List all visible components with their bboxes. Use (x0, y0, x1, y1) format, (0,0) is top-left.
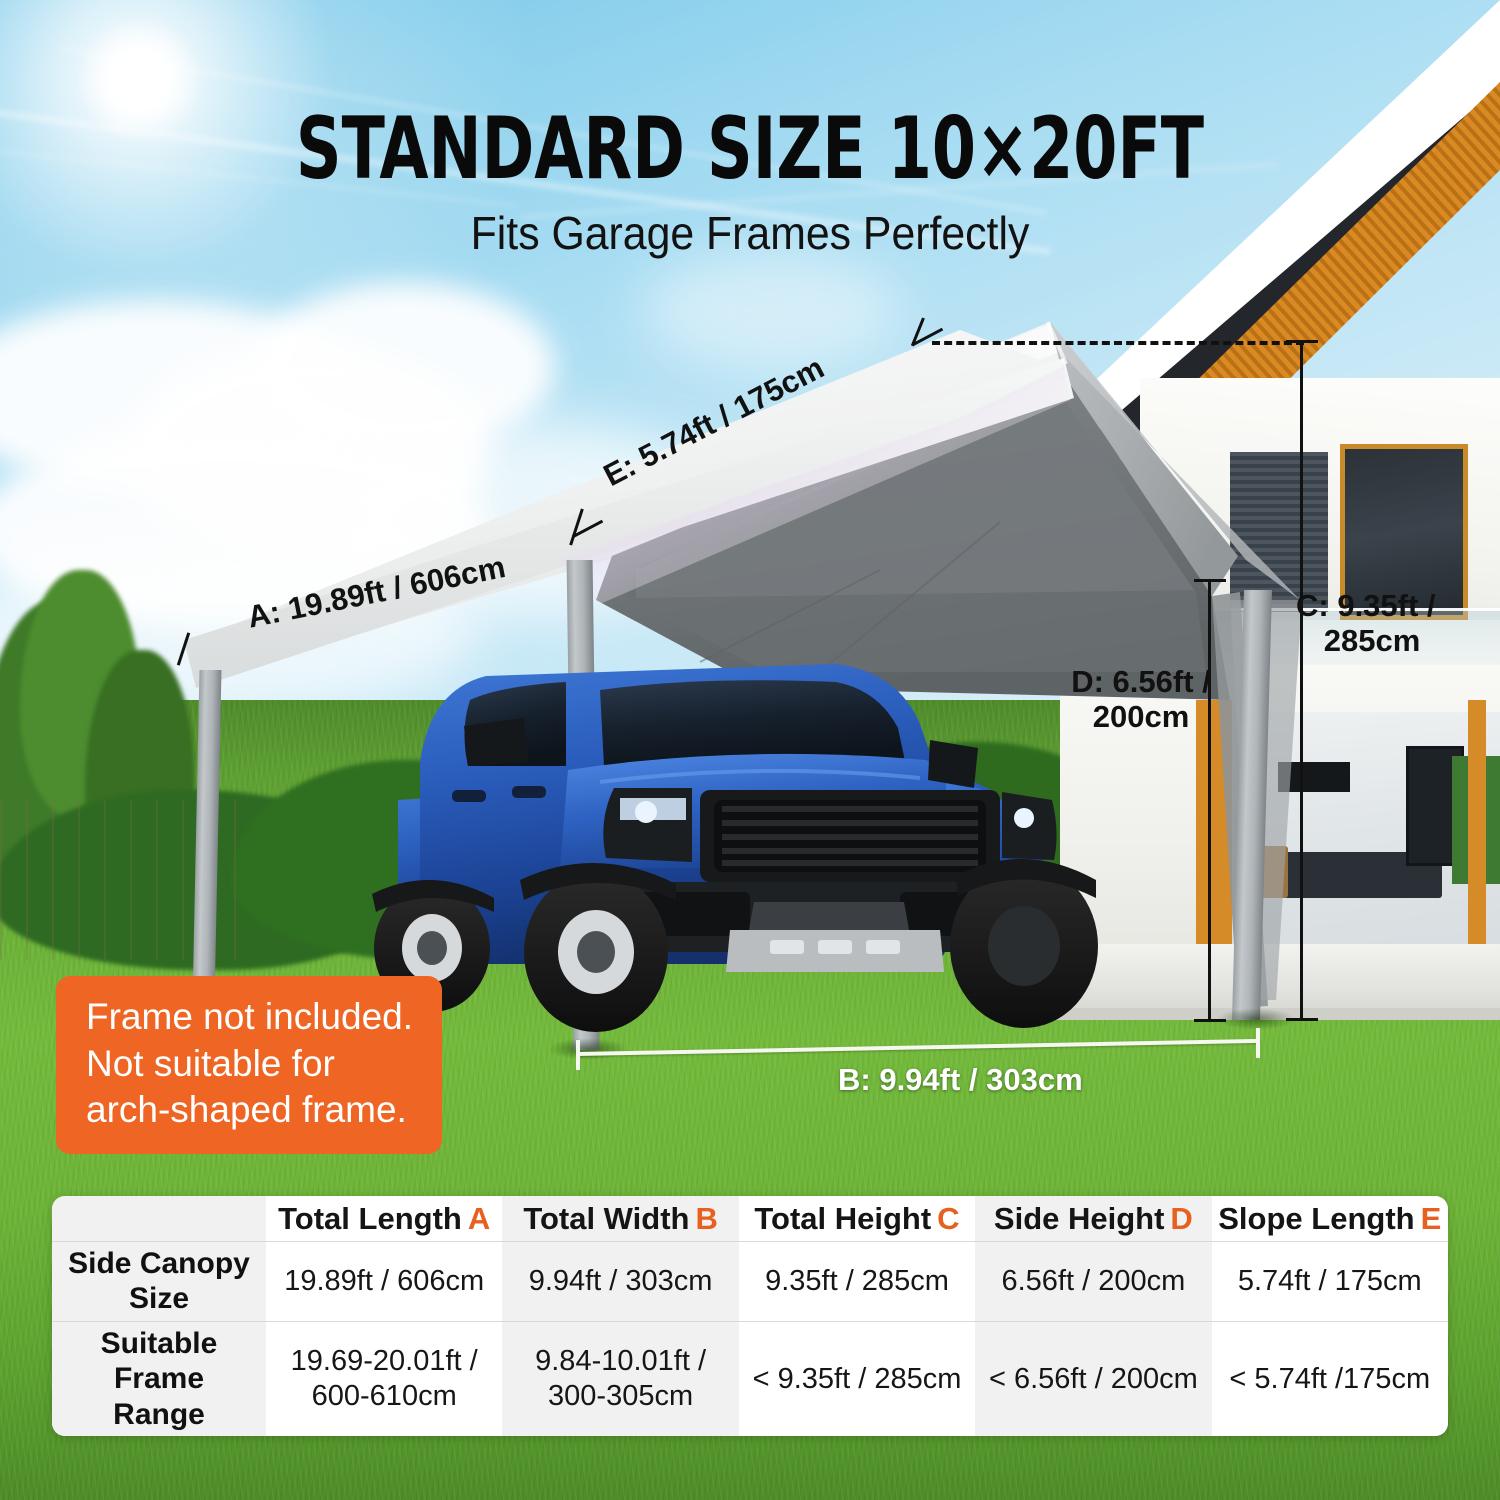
cell-value-line2: 600-610cm (291, 1379, 478, 1414)
cell-value-line1: < 6.56ft / 200cm (989, 1362, 1198, 1397)
cell-value-line1: < 5.74ft /175cm (1229, 1362, 1430, 1397)
header-label: Side Height (994, 1201, 1165, 1237)
cell-value-line1: 9.35ft / 285cm (765, 1264, 949, 1299)
cell-range-total-height: < 9.35ft / 285cm (739, 1322, 975, 1436)
dimension-cap-b-right (1256, 1028, 1260, 1058)
table-header-total-length: Total LengthA (266, 1196, 502, 1241)
dimension-label-d: D: 6.56ft / 200cm (1070, 664, 1212, 735)
disclaimer-line-2: Not suitable for (86, 1041, 420, 1088)
header-label: Slope Length (1218, 1201, 1414, 1237)
table-corner-cell (52, 1196, 266, 1241)
table-row: Side Canopy Size 19.89ft / 606cm 9.94ft … (52, 1241, 1448, 1321)
cell-value-line1: 9.94ft / 303cm (529, 1264, 713, 1299)
cell-size-total-length: 19.89ft / 606cm (266, 1242, 502, 1321)
dimension-label-c-line2: 285cm (1296, 623, 1448, 658)
dimension-line-d (1208, 580, 1211, 1022)
page-subtitle: Fits Garage Frames Perfectly (53, 206, 1448, 260)
cell-size-total-width: 9.94ft / 303cm (502, 1242, 738, 1321)
header-key: A (468, 1201, 490, 1237)
table-header-row: Total LengthA Total WidthB Total HeightC… (52, 1196, 1448, 1241)
dimension-cap-d-bottom (1194, 1019, 1226, 1022)
cell-range-total-length: 19.69-20.01ft / 600-610cm (266, 1322, 502, 1436)
row-label-line1: Suitable Frame (58, 1326, 260, 1397)
page-title: STANDARD SIZE 10×20FT (135, 106, 1365, 192)
row-label-line2: Range (58, 1397, 260, 1432)
specification-table: Total LengthA Total WidthB Total HeightC… (52, 1196, 1448, 1436)
row-label-line2: Size (68, 1281, 250, 1316)
header-label: Total Width (523, 1201, 689, 1237)
dimension-label-c-line1: C: 9.35ft / (1296, 588, 1496, 623)
header-key: D (1170, 1201, 1192, 1237)
disclaimer-callout: Frame not included. Not suitable for arc… (56, 976, 442, 1154)
row-label-side-canopy-size: Side Canopy Size (52, 1242, 266, 1321)
cell-range-side-height: < 6.56ft / 200cm (975, 1322, 1211, 1436)
cell-range-slope-length: < 5.74ft /175cm (1212, 1322, 1448, 1436)
table-header-slope-length: Slope LengthE (1212, 1196, 1448, 1241)
disclaimer-line-1: Frame not included. (86, 994, 420, 1041)
header-label: Total Length (278, 1201, 462, 1237)
header-key: C (937, 1201, 959, 1237)
dimension-label-b: B: 9.94ft / 303cm (838, 1062, 1083, 1097)
header-label: Total Height (754, 1201, 931, 1237)
table-row: Suitable Frame Range 19.69-20.01ft / 600… (52, 1321, 1448, 1436)
header-key: E (1421, 1201, 1442, 1237)
header-key: B (695, 1201, 717, 1237)
dimension-label-c: C: 9.35ft / 285cm (1296, 588, 1496, 659)
cell-value-line2: 300-305cm (535, 1379, 706, 1414)
cell-value-line1: 9.84-10.01ft / (535, 1344, 706, 1379)
truck-mirror-right (928, 740, 978, 788)
dimension-line-peak-horizontal (932, 341, 1304, 345)
dimension-line-c (1300, 341, 1303, 1021)
dimension-label-d-line1: D: 6.56ft / (1070, 664, 1212, 699)
disclaimer-line-3: arch-shaped frame. (86, 1087, 420, 1134)
cell-range-total-width: 9.84-10.01ft / 300-305cm (502, 1322, 738, 1436)
table-header-total-width: Total WidthB (502, 1196, 738, 1241)
cell-value-line1: 19.69-20.01ft / (291, 1344, 478, 1379)
row-label-line1: Side Canopy (68, 1246, 250, 1281)
dimension-cap-d-top (1194, 579, 1226, 582)
cell-value-line1: < 9.35ft / 285cm (753, 1362, 962, 1397)
cell-value-line1: 19.89ft / 606cm (284, 1264, 484, 1299)
table-header-side-height: Side HeightD (975, 1196, 1211, 1241)
cell-value-line1: 5.74ft / 175cm (1238, 1264, 1422, 1299)
dimension-cap-b-left (576, 1040, 580, 1070)
cell-size-side-height: 6.56ft / 200cm (975, 1242, 1211, 1321)
truck-wheel-front-left (524, 872, 668, 1032)
dimension-cap-c-top (1286, 340, 1318, 343)
cell-size-total-height: 9.35ft / 285cm (739, 1242, 975, 1321)
product-infographic: STANDARD SIZE 10×20FT Fits Garage Frames… (0, 0, 1500, 1500)
dimension-label-d-line2: 200cm (1070, 699, 1212, 734)
truck-mirror-left (464, 718, 528, 766)
cell-size-slope-length: 5.74ft / 175cm (1212, 1242, 1448, 1321)
row-label-suitable-frame-range: Suitable Frame Range (52, 1322, 266, 1436)
dimension-cap-c-bottom (1286, 1018, 1318, 1021)
table-header-total-height: Total HeightC (739, 1196, 975, 1241)
truck-windshield (600, 680, 906, 766)
cell-value-line1: 6.56ft / 200cm (1001, 1264, 1185, 1299)
